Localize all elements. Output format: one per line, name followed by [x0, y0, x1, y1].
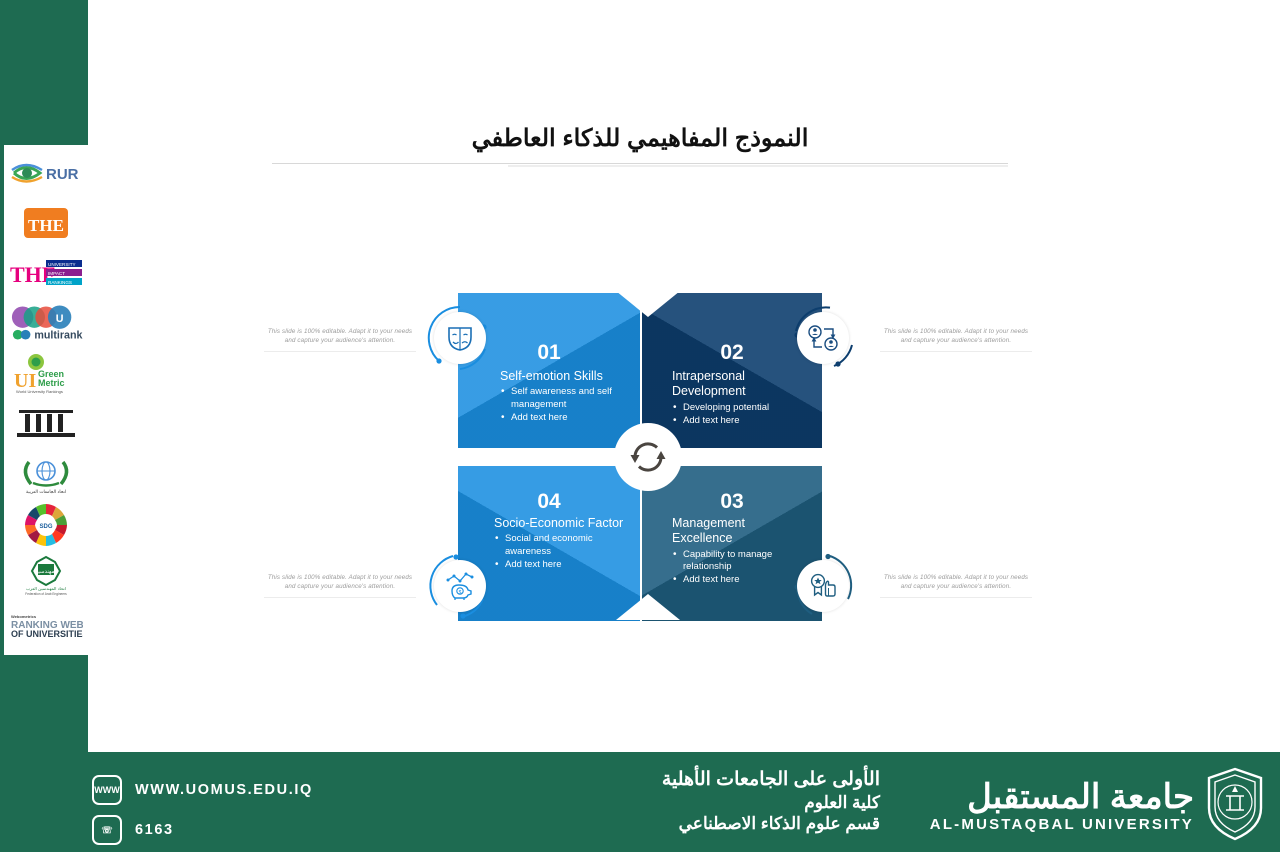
caption-rule-bottom-right [880, 597, 1032, 598]
footer-phone-row[interactable]: ☏ 6163 [92, 810, 392, 850]
slide-page: RUR THE THE UNIVERSITY IMPACT RANKINGS [0, 0, 1280, 852]
svg-text:IMPACT: IMPACT [48, 271, 65, 276]
university-shield-logo [1204, 766, 1266, 847]
people-exchange-icon [797, 312, 849, 364]
theater-masks-icon [434, 312, 486, 364]
ui-greenmetric-logo: UI Green Metric World University Ranking… [9, 350, 83, 397]
footer-contact-block: WWW WWW.UOMUS.EDU.IQ ☏ 6163 [92, 770, 392, 850]
footer-arabic-block: الأولى على الجامعات الأهلية كلية العلوم … [400, 768, 880, 835]
svg-text:اتحاد الجامعات العربية: اتحاد الجامعات العربية [26, 490, 66, 494]
svg-text:المهندسين: المهندسين [34, 569, 58, 575]
globe-www-icon: WWW [92, 775, 122, 805]
u-multirank-logo: U multirank [9, 300, 83, 347]
quadrant-02-bullet: Developing potential [672, 402, 804, 414]
badge-self-emotion-skills [427, 305, 493, 371]
quadrant-04-bullet: Social and economic awareness [494, 533, 628, 558]
association-arab-universities-logo: اتحاد الجامعات العربية [9, 451, 83, 498]
quadrant-03-bullet: Add text here [672, 574, 808, 586]
caption-rule-top-left [264, 351, 416, 352]
svg-text:RUR: RUR [46, 166, 79, 183]
quadrant-03-number: 03 [642, 490, 822, 514]
quadrant-01-bullet: Add text here [500, 412, 628, 424]
award-badge-icon [797, 560, 849, 612]
piggy-bank-chart-icon: $ [434, 560, 486, 612]
caption-top-left: This slide is 100% editable. Adapt it to… [264, 327, 416, 346]
svg-text:اتحاد المهندسين العرب: اتحاد المهندسين العرب [26, 586, 66, 591]
svg-text:THE: THE [28, 216, 64, 235]
badge-intrapersonal-development [790, 305, 856, 371]
caption-rule-bottom-left [264, 597, 416, 598]
footer-arabic-line-3: قسم علوم الذكاء الاصطناعي [400, 813, 880, 835]
quadrant-04-bullet: Add text here [494, 559, 628, 571]
svg-text:Federation of Arab Engineers: Federation of Arab Engineers [25, 592, 67, 596]
svg-text:RANKINGS: RANKINGS [48, 280, 72, 285]
quadrant-02-heading: Intrapersonal Development [672, 369, 804, 400]
quadrant-03-bullet: Capability to manage relationship [672, 549, 808, 574]
footer-arabic-line-1: الأولى على الجامعات الأهلية [400, 768, 880, 792]
footer-arabic-line-2: كلية العلوم [400, 792, 880, 813]
svg-text:U: U [56, 314, 64, 326]
phone-icon: ☏ [92, 815, 122, 845]
badge-socio-economic-factor: $ [427, 553, 493, 619]
quadrant-03-heading: Management Excellence [672, 516, 808, 547]
quadrant-02-bullet: Add text here [672, 415, 804, 427]
svg-text:OF UNIVERSITIES: OF UNIVERSITIES [11, 629, 83, 639]
caption-rule-top-right [880, 351, 1032, 352]
svg-text:multirank: multirank [34, 330, 82, 342]
svg-text:$: $ [459, 590, 462, 596]
emotional-intelligence-infographic: This slide is 100% editable. Adapt it to… [250, 285, 1050, 635]
svg-text:UNIVERSITY: UNIVERSITY [48, 262, 76, 267]
university-name-english: AL-MUSTAQBAL UNIVERSITY [930, 816, 1194, 833]
svg-text:Metric: Metric [38, 378, 65, 388]
quadrant-01-bullet: Self awareness and self management [500, 386, 628, 411]
svg-text:World University Rankings: World University Rankings [16, 389, 63, 394]
federation-arab-engineers-logo: المهندسين اتحاد المهندسين العرب Federati… [9, 552, 83, 599]
quadrant-01-heading: Self-emotion Skills [500, 369, 628, 384]
accreditation-logo-strip: RUR THE THE UNIVERSITY IMPACT RANKINGS [4, 145, 88, 655]
rur-ranking-logo: RUR [9, 149, 83, 196]
title-divider-secondary [508, 165, 1008, 167]
the-impact-rankings-logo: THE UNIVERSITY IMPACT RANKINGS [9, 250, 83, 297]
badge-management-excellence [790, 553, 856, 619]
svg-text:Webometrics: Webometrics [11, 614, 37, 619]
slide-title: النموذج المفاهيمي للذكاء العاطفي [270, 124, 1010, 153]
footer-website-row[interactable]: WWW WWW.UOMUS.EDU.IQ [92, 770, 392, 810]
footer-phone-text: 6163 [135, 822, 174, 838]
svg-text:SDG: SDG [39, 524, 52, 530]
footer-website-text: WWW.UOMUS.EDU.IQ [135, 782, 313, 798]
quadrant-04-heading: Socio-Economic Factor [494, 516, 628, 531]
webometrics-logo: Webometrics RANKING WEB OF UNIVERSITIES [9, 602, 83, 649]
university-name-arabic: جامعة المستقبل [930, 780, 1194, 816]
sdg-wheel-logo: SDG [9, 501, 83, 548]
quadrant-04-number: 04 [458, 490, 640, 514]
caption-bottom-right: This slide is 100% editable. Adapt it to… [880, 573, 1032, 592]
columns-ranking-logo [9, 401, 83, 448]
title-divider [272, 163, 1008, 164]
the-ranking-logo: THE [9, 199, 83, 246]
cycle-arrows-icon [614, 423, 682, 491]
caption-top-right: This slide is 100% editable. Adapt it to… [880, 327, 1032, 346]
caption-bottom-left: This slide is 100% editable. Adapt it to… [264, 573, 416, 592]
footer-university-brand: جامعة المستقبل AL-MUSTAQBAL UNIVERSITY [930, 766, 1266, 847]
